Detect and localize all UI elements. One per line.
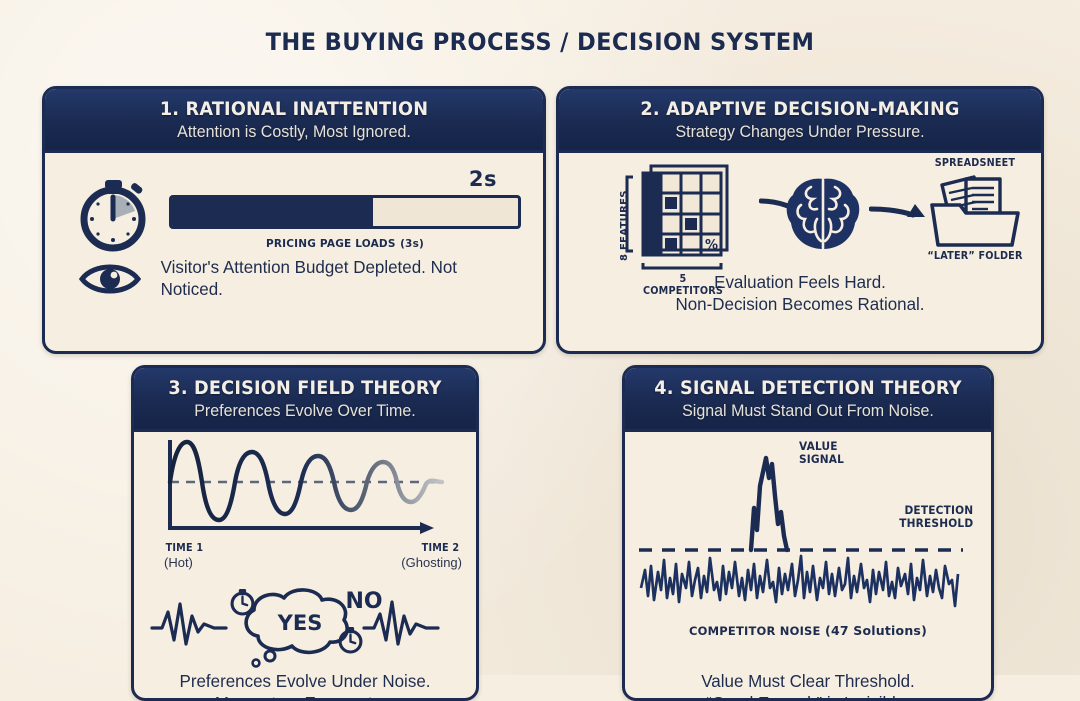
attention-statement-row: Visitor's Attention Budget Depleted. Not… (79, 257, 527, 300)
bubble-no-text: NO (345, 589, 382, 614)
panel-4-title: 4. SIGNAL DETECTION THEORY (643, 377, 972, 399)
page-title: THE BUYING PROCESS / DECISION SYSTEM (32, 28, 1047, 56)
panel-2-body: % 8 FEATURES 5 COMPETITORS (559, 153, 1041, 332)
detection-threshold-label-line-2: THRESHOLD (900, 517, 974, 530)
value-signal-trace (751, 458, 787, 550)
panel-1-title: 1. RATIONAL INATTENTION (68, 98, 520, 120)
panel-2-subtitle: Strategy Changes Under Pressure. (572, 123, 1028, 142)
stopwatch-icon (77, 173, 155, 253)
meter-caption: PRICING PAGE LOADS (3s) (169, 234, 521, 252)
bubble-yes-text: YES (277, 611, 323, 635)
panel-1-subtitle: Attention is Costly, Most Ignored. (58, 123, 529, 142)
svg-text:%: % (705, 238, 718, 253)
panel-3-caption-line-1: Preferences Evolve Under Noise. (139, 670, 471, 692)
panel-2-caption-line-1: Evaluation Feels Hard. (566, 271, 1034, 293)
panel-2-caption: Evaluation Feels Hard. Non-Decision Beco… (566, 271, 1034, 315)
panel-4-body: VALUE SIGNAL DETECTION THRESHOLD COMPETI… (625, 432, 991, 679)
panel-rational-inattention: 1. RATIONAL INATTENTION Attention is Cos… (42, 86, 546, 354)
time-1-sublabel: (Hot) (164, 555, 205, 570)
time-1-label-group: TIME 1 (Hot) (164, 542, 205, 570)
panel-4-caption-line-2: “Good Enough” is Invisible. (630, 692, 985, 701)
noise-caption-sub: (47 Solutions) (825, 623, 927, 638)
panel-3-subtitle: Preferences Evolve Over Time. (145, 402, 465, 421)
matrix-y-label: 8 FEATURES (619, 190, 630, 261)
panel-3-caption-line-2: Momentum Evaporates. (139, 692, 471, 701)
meter-value-label: 2s (469, 167, 497, 191)
brain-icon (781, 175, 865, 253)
panel-2-header: 2. ADAPTIVE DECISION-MAKING Strategy Cha… (559, 89, 1041, 153)
panel-2-caption-line-2: Non-Decision Becomes Rational. (566, 293, 1034, 315)
panel-signal-detection-theory: 4. SIGNAL DETECTION THEORY Signal Must S… (622, 365, 994, 701)
progress-bar-track (169, 195, 521, 229)
panel-3-title: 3. DECISION FIELD THEORY (152, 377, 459, 399)
value-signal-label: VALUE SIGNAL (797, 440, 846, 465)
detection-threshold-label: DETECTION THRESHOLD (896, 504, 977, 529)
time-2-label: TIME 2 (404, 542, 460, 554)
attention-statement-line-1: Visitor's Attention Budget (161, 257, 349, 277)
later-folder-label: “LATER” FOLDER (920, 250, 1030, 262)
panel-4-header: 4. SIGNAL DETECTION THEORY Signal Must S… (625, 368, 991, 432)
time-2-label-group: TIME 2 (Ghosting) (401, 542, 462, 570)
page-load-meter: 2s PRICING PAGE LOADS (3s) (169, 195, 521, 252)
panel-3-body: TIME 1 (Hot) TIME 2 (Ghosting) YES (134, 432, 476, 679)
competitor-noise-trace (641, 556, 958, 606)
progress-bar-fill (172, 198, 373, 226)
comparison-matrix: % 8 FEATURES 5 COMPETITORS (605, 163, 755, 271)
attention-meter-row: 2s PRICING PAGE LOADS (3s) (59, 161, 531, 253)
noise-thought-cluster: YES NO (142, 582, 468, 668)
panel-1-body: 2s PRICING PAGE LOADS (3s) (45, 153, 543, 332)
spreadsheet-label: SPREADSNEET (920, 157, 1030, 169)
panel-2-title: 2. ADAPTIVE DECISION-MAKING (581, 98, 1018, 120)
panel-adaptive-decision-making: 2. ADAPTIVE DECISION-MAKING Strategy Cha… (556, 86, 1044, 354)
evaluation-flow-diagram: % 8 FEATURES 5 COMPETITORS (563, 157, 1037, 273)
attention-statement: Visitor's Attention Budget Depleted. Not… (161, 257, 522, 300)
noise-caption-bold: COMPETITOR NOISE (689, 624, 821, 638)
folder-icon (922, 171, 1028, 249)
panel-1-header: 1. RATIONAL INATTENTION Attention is Cos… (45, 89, 543, 153)
panel-4-subtitle: Signal Must Stand Out From Noise. (636, 402, 979, 421)
panel-3-header: 3. DECISION FIELD THEORY Preferences Evo… (134, 368, 476, 432)
time-1-label: TIME 1 (166, 542, 204, 554)
preference-oscillation-chart (154, 436, 454, 548)
panel-decision-field-theory: 3. DECISION FIELD THEORY Preferences Evo… (131, 365, 479, 701)
value-signal-label-line-2: SIGNAL (799, 453, 844, 466)
time-2-sublabel: (Ghosting) (401, 555, 462, 570)
panel-4-caption-line-1: Value Must Clear Threshold. (630, 670, 985, 692)
noise-caption: COMPETITOR NOISE (47 Solutions) (625, 622, 991, 640)
meter-caption-bold: PRICING PAGE LOADS (266, 238, 396, 250)
meter-caption-sub: (3s) (400, 238, 424, 250)
signal-noise-chart (633, 438, 977, 638)
later-folder-group: SPREADSNEET “ (915, 157, 1035, 262)
eye-icon (79, 260, 141, 298)
